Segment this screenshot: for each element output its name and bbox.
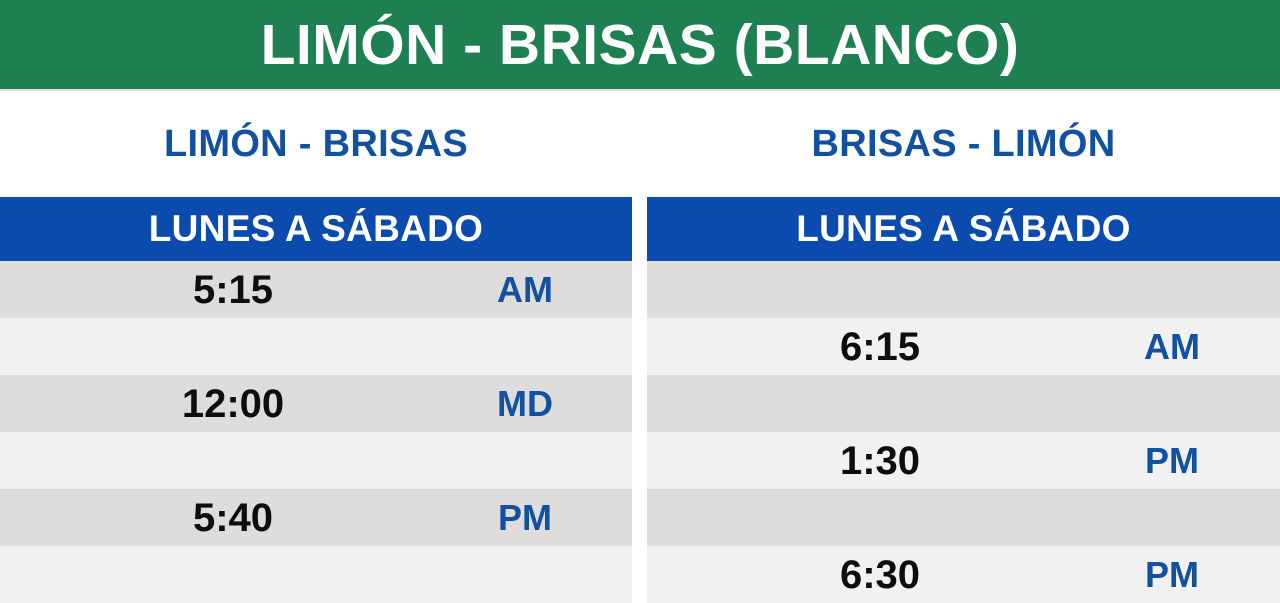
schedule-page: LIMÓN - BRISAS (BLANCO) LIMÓN - BRISAS L… [0,0,1280,601]
departure-meridiem: AM [1113,329,1231,365]
table-row [0,546,632,603]
departure-time: 1:30 [647,441,1113,481]
departure-meridiem: PM [1113,443,1231,479]
column-divider [632,91,647,601]
day-band-label: LUNES A SÁBADO [149,208,483,250]
table-row [647,375,1280,432]
route-heading-right: BRISAS - LIMÓN [647,91,1280,197]
table-row: 1:30 PM [647,432,1280,489]
table-row [0,432,632,489]
route-heading-label: BRISAS - LIMÓN [812,123,1116,166]
schedule-column-brisas-limon: BRISAS - LIMÓN LUNES A SÁBADO 6:15 AM [647,91,1280,601]
departure-rows-right: 6:15 AM 1:30 PM 6:30 PM [647,261,1280,603]
table-row: 6:30 PM [647,546,1280,603]
departure-time: 5:15 [0,270,466,310]
page-title: LIMÓN - BRISAS (BLANCO) [261,17,1020,74]
departure-meridiem: MD [466,386,584,422]
schedule-column-limon-brisas: LIMÓN - BRISAS LUNES A SÁBADO 5:15 AM 12… [0,91,632,601]
day-band-left: LUNES A SÁBADO [0,197,632,261]
route-heading-left: LIMÓN - BRISAS [0,91,632,197]
departure-time: 12:00 [0,384,466,424]
route-title-banner: LIMÓN - BRISAS (BLANCO) [0,0,1280,91]
departure-time: 6:30 [647,555,1113,595]
table-row: 5:15 AM [0,261,632,318]
departure-time: 6:15 [647,327,1113,367]
table-row [647,489,1280,546]
departure-meridiem: PM [466,500,584,536]
table-row [0,318,632,375]
day-band-right: LUNES A SÁBADO [647,197,1280,261]
departure-meridiem: PM [1113,557,1231,593]
schedule-columns: LIMÓN - BRISAS LUNES A SÁBADO 5:15 AM 12… [0,91,1280,601]
table-row [647,261,1280,318]
departure-rows-left: 5:15 AM 12:00 MD 5:40 PM [0,261,632,603]
day-band-label: LUNES A SÁBADO [796,208,1130,250]
departure-time: 5:40 [0,498,466,538]
route-heading-label: LIMÓN - BRISAS [164,123,468,166]
departure-meridiem: AM [466,272,584,308]
table-row: 12:00 MD [0,375,632,432]
table-row: 6:15 AM [647,318,1280,375]
table-row: 5:40 PM [0,489,632,546]
